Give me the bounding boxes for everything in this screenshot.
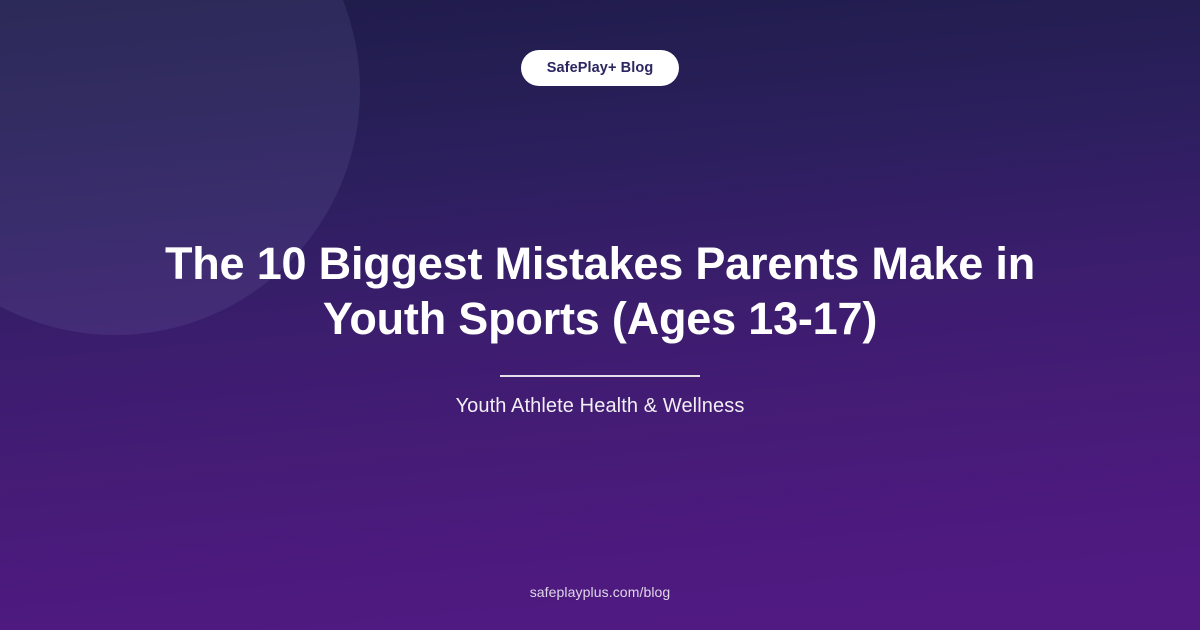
footer-url: safeplayplus.com/blog <box>0 584 1200 601</box>
page-subtitle: Youth Athlete Health & Wellness <box>456 394 745 418</box>
brand-badge-label: SafePlay+ Blog <box>547 60 654 76</box>
og-share-card: SafePlay+ Blog The 10 Biggest Mistakes P… <box>0 0 1200 630</box>
page-title: The 10 Biggest Mistakes Parents Make in … <box>110 236 1090 346</box>
brand-badge: SafePlay+ Blog <box>521 50 680 86</box>
title-divider <box>500 375 700 377</box>
hero-block: The 10 Biggest Mistakes Parents Make in … <box>0 236 1200 418</box>
card-content: SafePlay+ Blog The 10 Biggest Mistakes P… <box>0 0 1200 630</box>
